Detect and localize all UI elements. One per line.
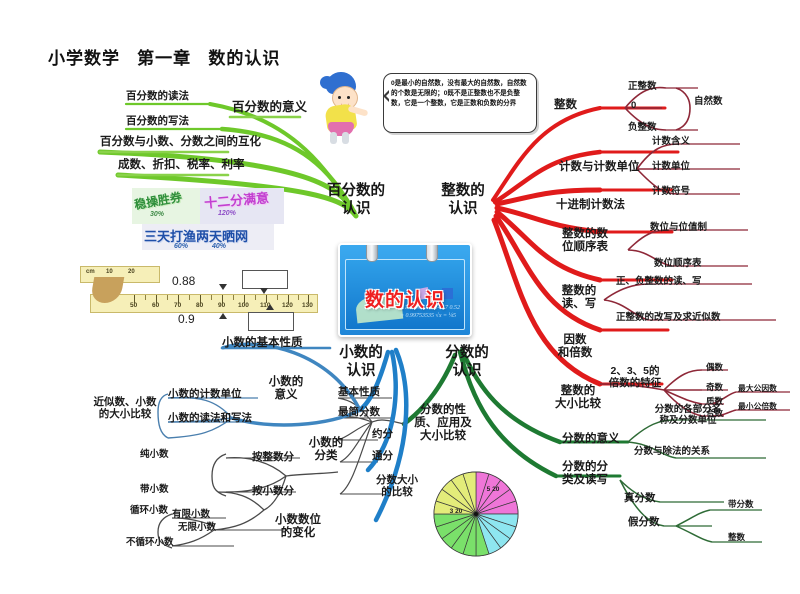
mindmap-canvas: 小学数学 第一章 数的认识 0.120 000.00.0.45.7 0.52 =… — [0, 0, 800, 594]
card-ring-right — [426, 243, 438, 262]
ruler-num-4: 90 — [218, 302, 225, 309]
ruler-empty-box-top — [242, 270, 288, 289]
ruler-empty-box-bottom — [248, 312, 294, 331]
leaf-fraction-parts[interactable]: 分数的各部分名 称及分数单位 — [634, 405, 742, 427]
leaf-fraction-division[interactable]: 分数与除法的关系 — [634, 447, 710, 458]
cartoon-girl-icon — [318, 72, 370, 144]
ruler-num-0: 50 — [130, 302, 137, 309]
node-multiples-feature[interactable]: 2、3、5的 倍数的特征 — [604, 365, 666, 389]
tape-measure-decoration: cm 10 20 50 60 70 80 90 100 110 120 130 … — [58, 264, 318, 330]
leaf-common-denominator[interactable]: 通分 — [372, 450, 393, 462]
leaf-by-decimal[interactable]: 按小数分 — [252, 485, 294, 497]
leaf-by-integer[interactable]: 按整数分 — [252, 451, 294, 463]
leaf-percent-conversion[interactable]: 百分数与小数、分数之间的互化 — [100, 136, 261, 149]
leaf-rewrite-approx[interactable]: 正整数的改写及求近似数 — [616, 313, 721, 324]
leaf-negative-integer[interactable]: 负整数 — [628, 123, 657, 134]
card-ring-left — [366, 243, 378, 262]
leaf-counting-unit[interactable]: 计数单位 — [652, 162, 690, 173]
page-title: 小学数学 第一章 数的认识 — [48, 44, 280, 69]
node-decimal-digit-change[interactable]: 小数数位 的变化 — [266, 514, 330, 540]
ruler-num-7: 120 — [282, 302, 293, 309]
leaf-even-number[interactable]: 偶数 — [706, 363, 723, 373]
main-node-decimal[interactable]: 小数的 认识 — [326, 345, 396, 380]
leaf-approx-compare[interactable]: 近似数、小数 的大小比较 — [84, 396, 166, 420]
leaf-percent-writing[interactable]: 百分数的写法 — [126, 115, 189, 127]
node-decimal-system[interactable]: 十进制计数法 — [556, 199, 625, 212]
leaf-pure-decimal[interactable]: 纯小数 — [140, 450, 169, 461]
leaf-decimal-count-unit[interactable]: 小数的计数单位 — [168, 388, 242, 400]
leaf-mixed-decimal[interactable]: 带小数 — [140, 485, 169, 496]
leaf-counting-symbol[interactable]: 计数符号 — [652, 187, 690, 198]
leaf-infinite-decimal[interactable]: 无限小数 — [178, 523, 216, 534]
node-digit-order-table[interactable]: 整数的数 位顺序表 — [548, 228, 622, 254]
idiom-3: 三天打渔两天晒网 — [144, 226, 248, 245]
ruler-num-3: 80 — [196, 302, 203, 309]
leaf-basic-property[interactable]: 基本性质 — [338, 386, 380, 398]
node-integer-compare[interactable]: 整数的 大小比较 — [546, 385, 610, 411]
ruler-num-5: 100 — [238, 302, 249, 309]
node-fraction-meaning[interactable]: 分数的意义 — [562, 433, 620, 446]
node-integer-read-write[interactable]: 整数的 读、写 — [548, 285, 610, 311]
node-fraction-property[interactable]: 分数的性 质、应用及 大小比较 — [406, 404, 480, 444]
ruler-mark-09: 0.9 — [178, 312, 195, 326]
node-integer[interactable]: 整数 — [554, 99, 577, 112]
node-decimal-basic-property[interactable]: 小数的基本性质 — [222, 337, 303, 350]
fraction-pie-chart: 5 20 3 20 — [432, 470, 520, 558]
speech-balloon: 0是最小的自然数，没有最大的自然数，自然数的个数是无限的；0既不是正整数也不是负… — [383, 73, 537, 133]
leaf-positive-integer[interactable]: 正整数 — [628, 82, 657, 93]
leaf-improper-fraction[interactable]: 假分数 — [628, 516, 660, 528]
idiom-1-percent: 30% — [150, 211, 164, 218]
main-node-fraction[interactable]: 分数的 认识 — [432, 345, 502, 380]
leaf-counting-meaning[interactable]: 计数含义 — [652, 137, 690, 148]
leaf-percent-discount[interactable]: 成数、折扣、税率、利率 — [118, 159, 245, 172]
main-node-integer[interactable]: 整数的 认识 — [428, 183, 498, 218]
leaf-lcm[interactable]: 最小公倍数 — [738, 403, 777, 412]
leaf-digit-order[interactable]: 数位顺序表 — [654, 259, 702, 270]
ruler-small-1: 10 — [106, 269, 113, 275]
ruler-small-2: 20 — [128, 269, 135, 275]
ruler-num-1: 60 — [152, 302, 159, 309]
idiom-3-percent-a: 60% — [174, 243, 188, 250]
leaf-nonrepeating-decimal[interactable]: 不循环小数 — [126, 538, 174, 549]
leaf-natural-number[interactable]: 自然数 — [694, 97, 723, 108]
idiom-2-percent: 120% — [218, 210, 236, 217]
node-counting-unit[interactable]: 计数与计数单位 — [559, 161, 640, 174]
leaf-zero[interactable]: 0 — [631, 101, 636, 112]
leaf-mixed-number[interactable]: 带分数 — [728, 500, 754, 510]
leaf-proper-fraction[interactable]: 真分数 — [624, 492, 656, 504]
leaf-gcd[interactable]: 最大公因数 — [738, 385, 777, 394]
leaf-odd-number[interactable]: 奇数 — [706, 383, 723, 393]
idiom-decoration: 稳操胜券 十二分满意 三天打渔两天晒网 30% 120% 60% 40% — [116, 184, 288, 252]
leaf-finite-decimal[interactable]: 有限小数 — [172, 510, 210, 521]
ruler-mark-088: 0.88 — [172, 274, 195, 288]
ruler-small-0: cm — [86, 269, 95, 275]
node-decimal-meaning[interactable]: 小数的 意义 — [258, 376, 314, 402]
leaf-decimal-read-write[interactable]: 小数的读法和写法 — [168, 412, 252, 424]
leaf-place-value[interactable]: 数位与位值制 — [650, 223, 707, 234]
node-fraction-classify[interactable]: 分数的分 类及读写 — [552, 461, 618, 487]
main-node-percentage[interactable]: 百分数的 认识 — [318, 183, 394, 218]
leaf-pos-neg-read-write[interactable]: 正、负整数的读、写 — [616, 277, 702, 288]
leaf-percent-reading[interactable]: 百分数的读法 — [126, 90, 189, 102]
node-decimal-classify[interactable]: 小数的 分类 — [300, 437, 352, 463]
leaf-fraction-compare[interactable]: 分数大小 的比较 — [368, 474, 426, 498]
leaf-reduce-fraction[interactable]: 约分 — [372, 428, 393, 440]
leaf-repeating-decimal[interactable]: 循环小数 — [130, 506, 168, 517]
node-factor-multiple[interactable]: 因数 和倍数 — [548, 334, 602, 360]
pie-label-2: 3 20 — [446, 508, 466, 515]
ruler-num-8: 130 — [302, 302, 313, 309]
center-node-card[interactable]: 0.120 000.00.0.45.7 0.52 = 0.99753535 √x… — [338, 243, 472, 337]
leaf-simplest-fraction[interactable]: 最简分数 — [338, 406, 380, 418]
balloon-text: 0是最小的自然数，没有最大的自然数，自然数的个数是无限的；0既不是正整数也不是负… — [391, 79, 530, 109]
leaf-percent-meaning[interactable]: 百分数的意义 — [232, 100, 307, 114]
center-node-label: 数的认识 — [340, 285, 470, 312]
ruler-num-2: 70 — [174, 302, 181, 309]
pie-label-1: 5 20 — [482, 486, 504, 493]
idiom-3-percent-b: 40% — [212, 243, 226, 250]
leaf-integer-sub[interactable]: 整数 — [728, 533, 745, 543]
